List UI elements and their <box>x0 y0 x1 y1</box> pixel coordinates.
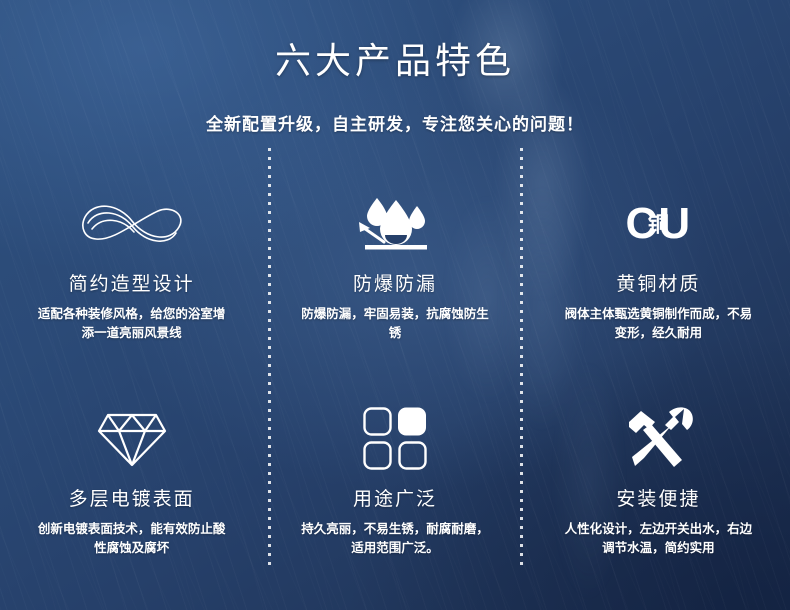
feature-description: 人性化设计，左边开关出水，右边调节水温，简约实用 <box>560 520 756 559</box>
feature-description: 防爆防漏，牢固易装，抗腐蚀防生锈 <box>297 305 493 344</box>
water-droplets-repellent-icon <box>357 185 433 263</box>
feature-description: 创新电镀表面技术，能有效防止酸性腐蚀及腐坏 <box>34 520 230 559</box>
copper-character: 铜 <box>648 214 669 235</box>
feature-description: 阀体主体甄选黄铜制作而成，不易变形，经久耐用 <box>560 305 756 344</box>
feature-description: 持久亮丽，不易生锈，耐腐耐磨，适用范围广泛。 <box>297 520 493 559</box>
feature-card-simple-design: 简约造型设计 适配各种装修风格，给您的浴室增添一道亮丽风景线 <box>0 185 263 400</box>
feature-title: 黄铜材质 <box>616 269 700 296</box>
hammer-wrench-icon <box>622 400 694 478</box>
four-squares-grid-icon <box>362 400 428 478</box>
feature-card-leak-proof: 防爆防漏 防爆防漏，牢固易装，抗腐蚀防生锈 <box>263 185 526 400</box>
page-subtitle: 全新配置升级，自主研发，专注您关心的问题！ <box>0 110 790 135</box>
feature-card-multilayer-plating: 多层电镀表面 创新电镀表面技术，能有效防止酸性腐蚀及腐坏 <box>0 400 263 605</box>
copper-cu-icon: CU 铜 <box>626 185 692 263</box>
poster-header: 六大产品特色 全新配置升级，自主研发，专注您关心的问题！ <box>0 0 790 135</box>
product-features-poster: 六大产品特色 全新配置升级，自主研发，专注您关心的问题！ 简约造型设计 适配各种… <box>0 0 790 610</box>
page-title: 六大产品特色 <box>0 32 790 84</box>
features-grid: 简约造型设计 适配各种装修风格，给您的浴室增添一道亮丽风景线 <box>0 185 790 605</box>
feature-title: 多层电镀表面 <box>69 484 195 511</box>
feature-title: 用途广泛 <box>353 484 437 511</box>
feature-description: 适配各种装修风格，给您的浴室增添一道亮丽风景线 <box>34 305 230 344</box>
feature-title: 简约造型设计 <box>69 269 195 296</box>
feature-card-easy-install: 安装便捷 人性化设计，左边开关出水，右边调节水温，简约实用 <box>527 400 790 605</box>
diamond-icon <box>95 400 169 478</box>
feature-title: 安装便捷 <box>616 484 700 511</box>
feature-title: 防爆防漏 <box>353 269 437 296</box>
infinity-ribbon-icon <box>76 185 188 263</box>
feature-card-wide-usage: 用途广泛 持久亮丽，不易生锈，耐腐耐磨，适用范围广泛。 <box>263 400 526 605</box>
feature-card-brass-material: CU 铜 黄铜材质 阀体主体甄选黄铜制作而成，不易变形，经久耐用 <box>527 185 790 400</box>
